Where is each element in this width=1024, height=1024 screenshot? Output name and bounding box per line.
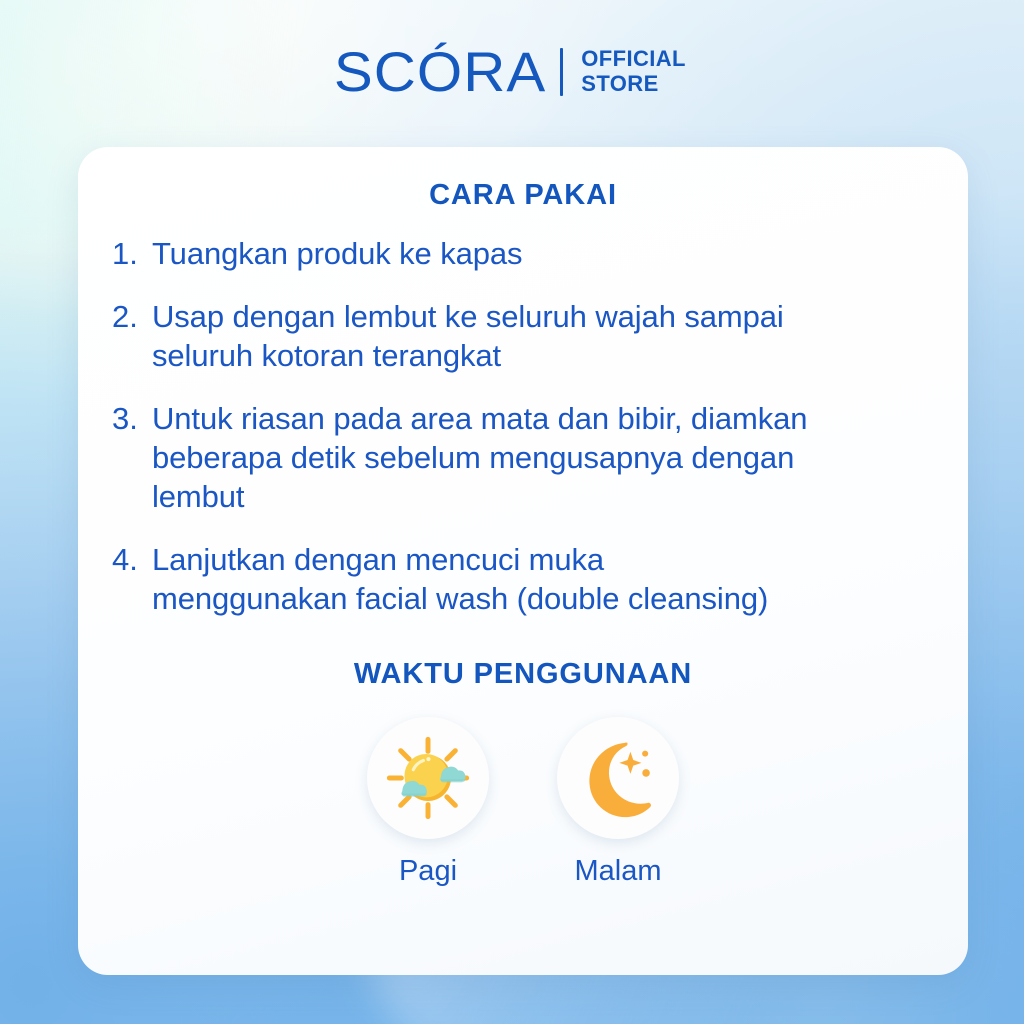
brand-official-line-2: STORE bbox=[581, 72, 686, 97]
steps-list: 1. Tuangkan produk ke kapas 2. Usap deng… bbox=[78, 234, 968, 618]
usage-label-morning: Pagi bbox=[399, 855, 457, 888]
moon-stars-icon bbox=[572, 732, 664, 824]
brand-divider bbox=[560, 48, 563, 96]
list-item: 1. Tuangkan produk ke kapas bbox=[112, 234, 944, 273]
list-item: 4. Lanjutkan dengan mencuci muka menggun… bbox=[112, 540, 944, 618]
card-title: CARA PAKAI bbox=[78, 179, 968, 212]
usage-item-morning: Pagi bbox=[367, 717, 489, 888]
step-number: 3. bbox=[112, 399, 152, 438]
brand-header: SCÓRA OFFICIAL STORE bbox=[0, 44, 1024, 100]
instructions-card: CARA PAKAI 1. Tuangkan produk ke kapas 2… bbox=[78, 147, 968, 975]
sun-cloud-icon bbox=[382, 732, 474, 824]
step-number: 1. bbox=[112, 234, 152, 273]
step-text: Tuangkan produk ke kapas bbox=[152, 234, 944, 273]
brand-official-line-1: OFFICIAL bbox=[581, 47, 686, 72]
step-text: Usap dengan lembut ke seluruh wajah samp… bbox=[152, 297, 944, 375]
usage-time-row: Pagi Malam bbox=[78, 717, 968, 888]
list-item: 3. Untuk riasan pada area mata dan bibir… bbox=[112, 399, 944, 516]
step-text: Untuk riasan pada area mata dan bibir, d… bbox=[152, 399, 944, 516]
usage-item-night: Malam bbox=[557, 717, 679, 888]
list-item: 2. Usap dengan lembut ke seluruh wajah s… bbox=[112, 297, 944, 375]
poster-canvas: SCÓRA OFFICIAL STORE CARA PAKAI 1. Tuang… bbox=[0, 0, 1024, 1024]
step-number: 2. bbox=[112, 297, 152, 336]
night-icon-badge bbox=[557, 717, 679, 839]
step-number: 4. bbox=[112, 540, 152, 579]
morning-icon-badge bbox=[367, 717, 489, 839]
usage-label-night: Malam bbox=[574, 855, 661, 888]
brand-official-store-label: OFFICIAL STORE bbox=[581, 47, 686, 96]
step-text: Lanjutkan dengan mencuci muka menggunaka… bbox=[152, 540, 944, 618]
brand-logo-text: SCÓRA bbox=[334, 44, 546, 100]
usage-time-title: WAKTU PENGGUNAAN bbox=[78, 658, 968, 691]
